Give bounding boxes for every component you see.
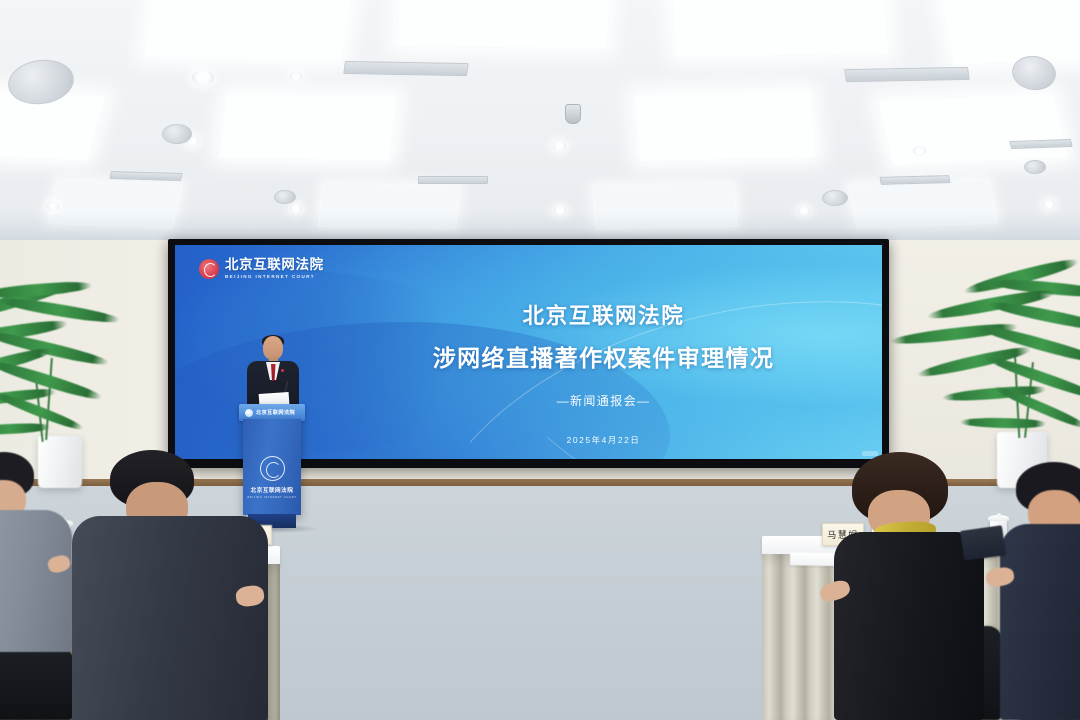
led-panel — [669, 0, 889, 58]
podium-banner-text: 北京互联网法院 — [256, 409, 295, 416]
led-panel — [143, 0, 357, 62]
ceiling-speaker — [162, 124, 192, 144]
air-vent — [343, 61, 469, 76]
screen-title-line1: 北京互联网法院 — [325, 299, 882, 330]
conference-room-photo: 北京互联网法院 BEIJING INTERNET COURT 北京互联网法院 涉… — [0, 0, 1080, 720]
audience-person-right-1 — [836, 452, 1014, 720]
air-vent — [844, 67, 970, 82]
screen-date: 2025年4月22日 — [325, 434, 882, 446]
court-emblem-icon — [199, 259, 219, 279]
plant-frond — [960, 417, 1046, 430]
screen-subtitle: —新闻通报会— — [325, 392, 882, 409]
person-torso — [72, 516, 268, 720]
screen-logo-chinese: 北京互联网法院 — [225, 258, 324, 272]
air-vent — [879, 175, 950, 185]
downlight — [913, 146, 926, 156]
person-torso — [834, 532, 984, 720]
screen-logo-english: BEIJING INTERNET COURT — [225, 275, 324, 280]
downlight — [1043, 200, 1055, 209]
led-panel — [877, 92, 1068, 166]
downlight — [553, 141, 566, 151]
tablet-device — [960, 525, 1006, 561]
sprinkler-head — [565, 104, 581, 124]
led-panel — [218, 92, 398, 162]
downlight — [47, 202, 59, 211]
lapel-badge-icon — [281, 369, 284, 372]
air-vent — [418, 176, 488, 184]
downlight — [192, 70, 214, 85]
led-panel — [936, 0, 1080, 65]
person-torso — [1000, 524, 1080, 720]
person-torso — [0, 510, 72, 652]
air-vent — [109, 171, 182, 181]
chair — [0, 648, 74, 720]
ceiling — [0, 0, 1080, 246]
audience-person-right-2 — [1000, 462, 1080, 720]
ceiling-speaker — [822, 190, 848, 206]
downlight — [290, 72, 302, 81]
ceiling-speaker — [274, 190, 296, 204]
audience-person-left-2 — [86, 450, 276, 720]
court-emblem-icon — [245, 409, 253, 417]
led-panel — [396, 0, 613, 49]
screen-title-line2: 涉网络直播著作权案件审理情况 — [325, 339, 882, 373]
led-panel — [633, 90, 817, 162]
screen-logo: 北京互联网法院 BEIJING INTERNET COURT — [199, 258, 324, 279]
ceiling-speaker — [1024, 160, 1046, 174]
speaker-person — [247, 336, 299, 408]
